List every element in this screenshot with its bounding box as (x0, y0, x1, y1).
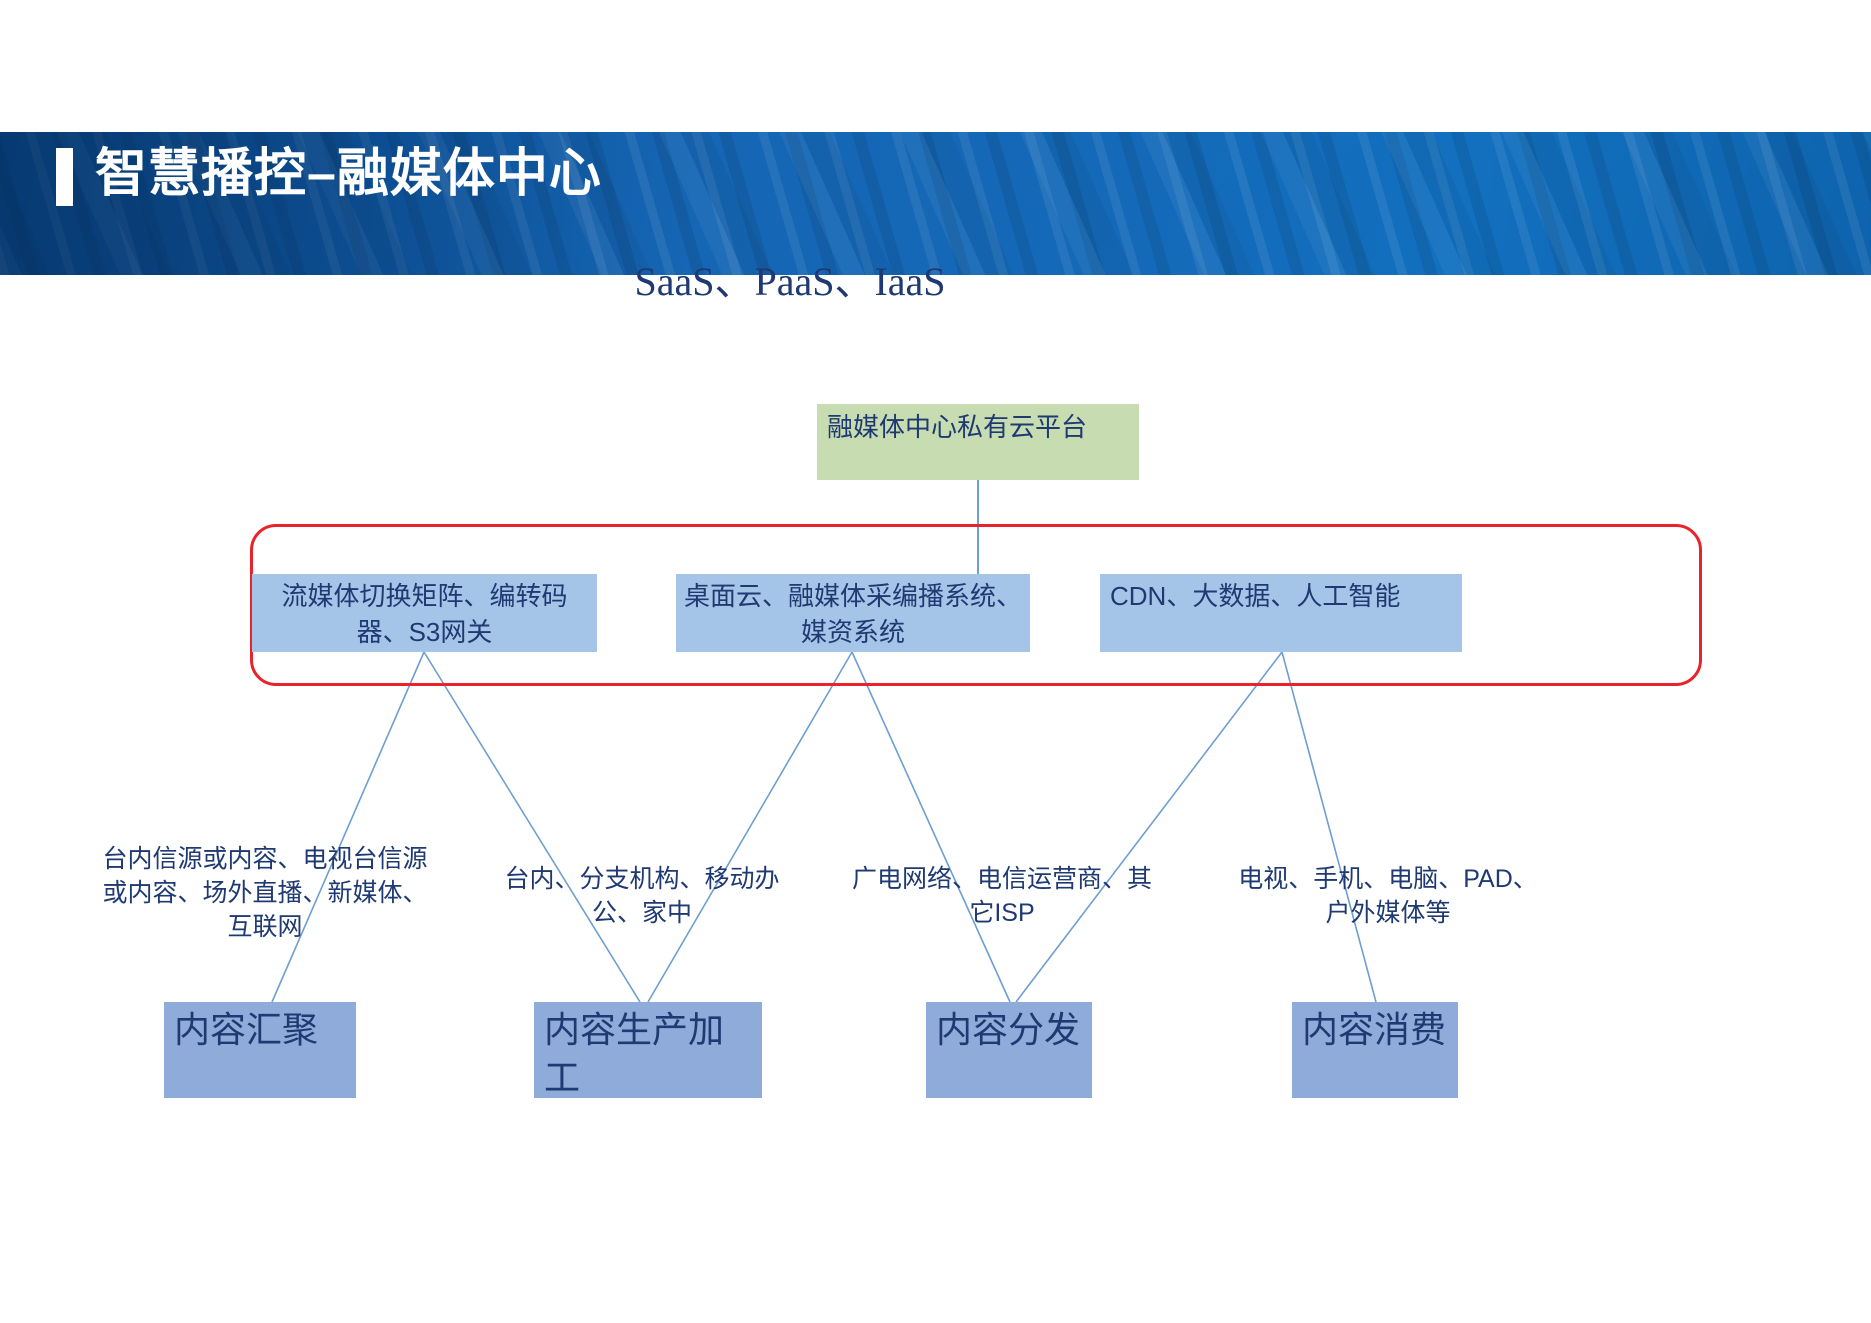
stage-box-consumption[interactable]: 内容消费 (1292, 1002, 1458, 1098)
source-caption-distribution: 广电网络、电信运营商、其它ISP (852, 862, 1152, 930)
capability-box-cdn[interactable]: CDN、大数据、人工智能 (1100, 574, 1462, 652)
page-title: 智慧播控–融媒体中心 (95, 140, 602, 208)
stage-box-production[interactable]: 内容生产加工 (534, 1002, 762, 1098)
stage-box-aggregation[interactable]: 内容汇聚 (164, 1002, 356, 1098)
capability-box-streaming[interactable]: 流媒体切换矩阵、编转码器、S3网关 (252, 574, 597, 652)
private-cloud-platform-box[interactable]: 融媒体中心私有云平台 (817, 404, 1139, 480)
source-caption-consumption: 电视、手机、电脑、PAD、户外媒体等 (1228, 862, 1548, 930)
source-caption-production: 台内、分支机构、移动办公、家中 (492, 862, 792, 930)
title-accent-bar (56, 148, 73, 206)
source-caption-aggregation: 台内信源或内容、电视台信源或内容、场外直播、新媒体、互联网 (100, 842, 430, 944)
cloud-models-label: SaaS、PaaS、IaaS (560, 258, 1020, 306)
stage-box-distribution[interactable]: 内容分发 (926, 1002, 1092, 1098)
capability-box-production[interactable]: 桌面云、融媒体采编播系统、媒资系统 (676, 574, 1030, 652)
